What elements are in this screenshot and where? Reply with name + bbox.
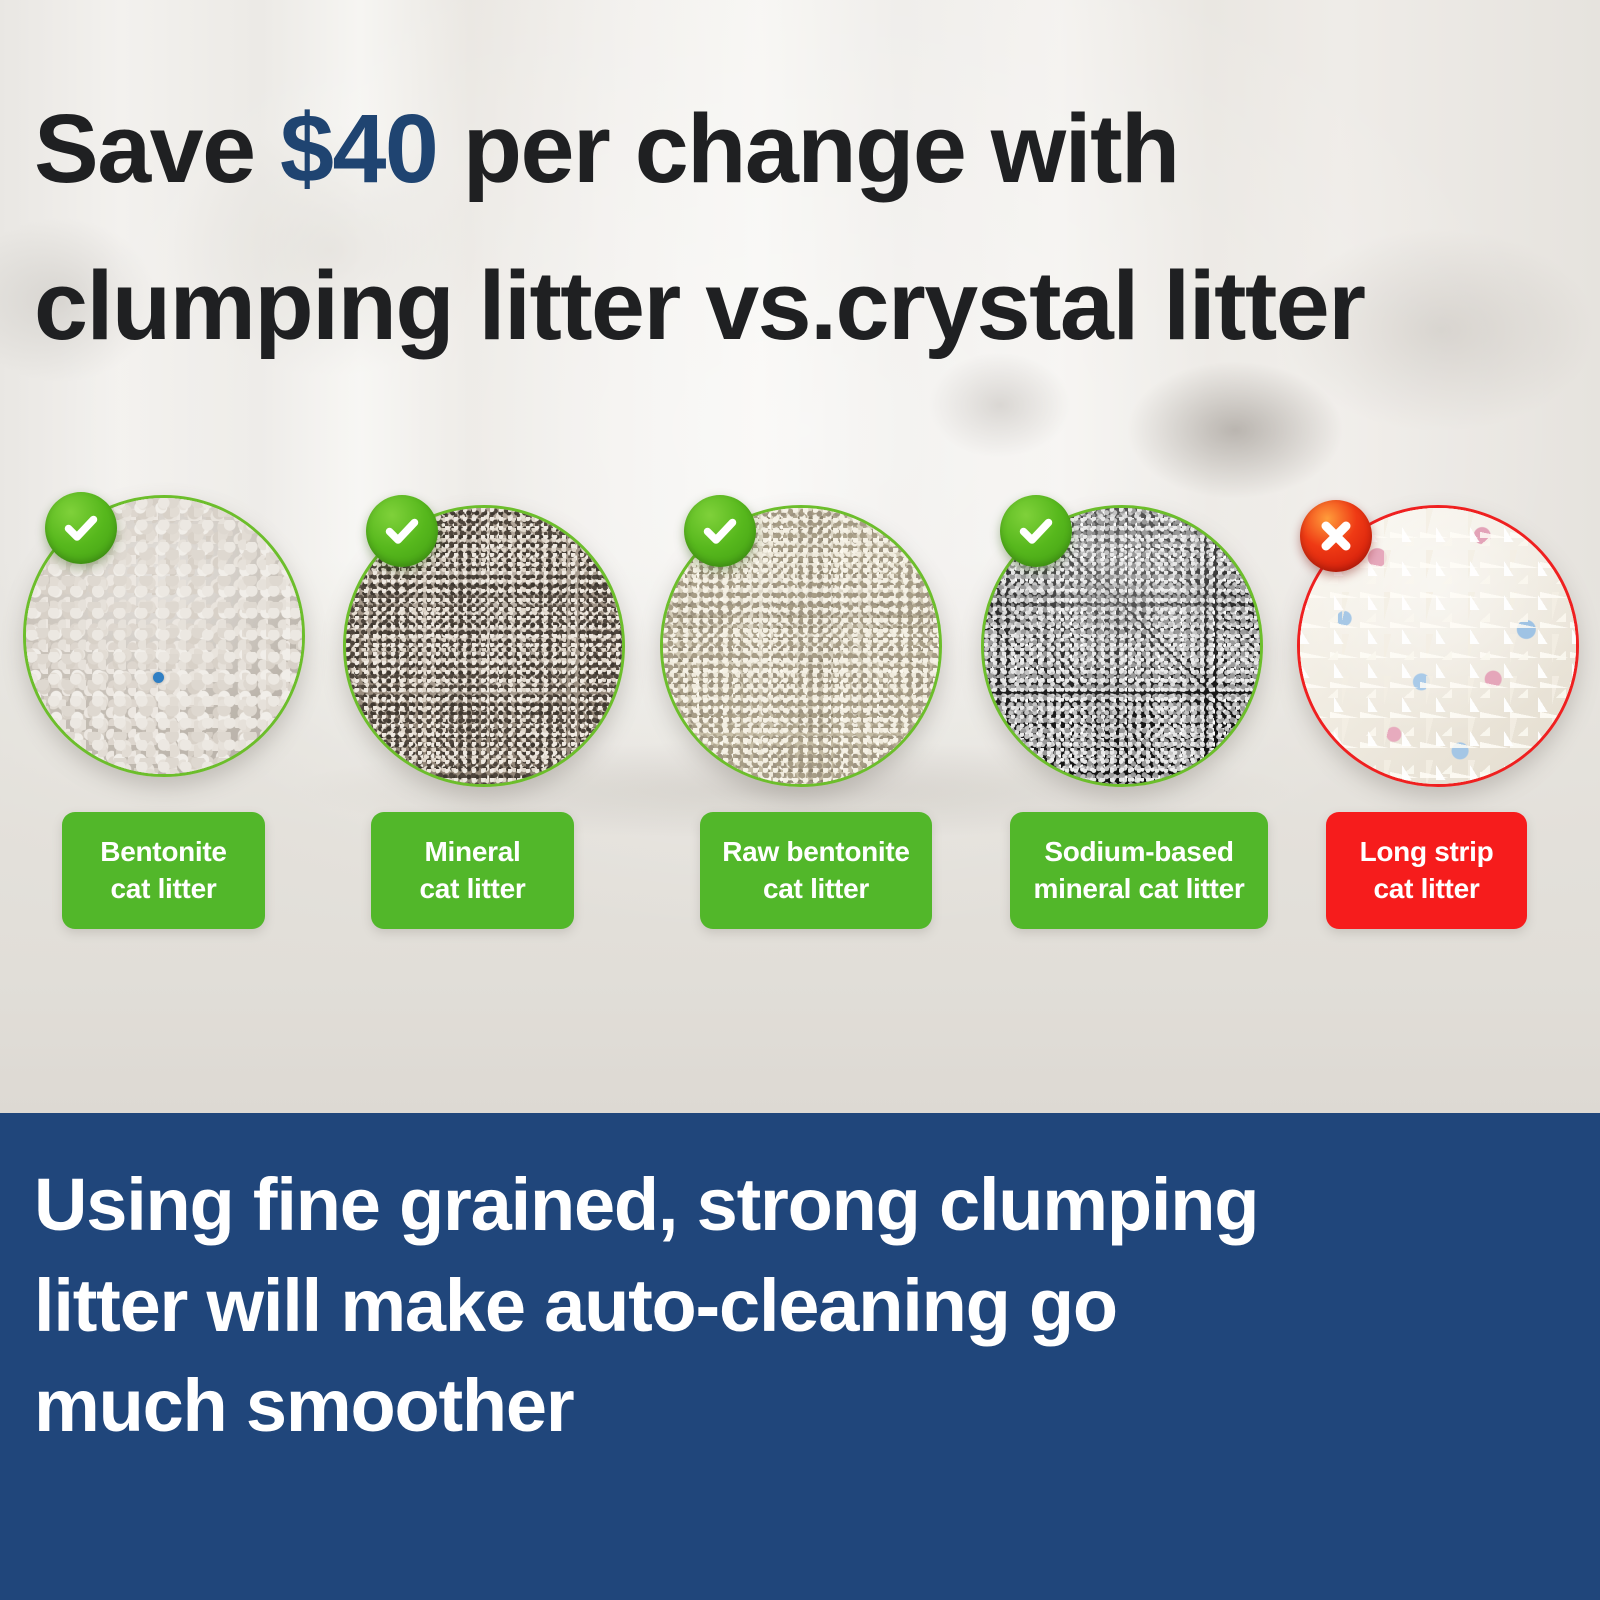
product-label-line1: Bentonite <box>100 836 226 867</box>
check-icon <box>684 495 756 567</box>
product-label-line1: Long strip <box>1360 836 1494 867</box>
footer-message: Using fine grained, strong clumping litt… <box>34 1155 1564 1457</box>
check-icon <box>366 495 438 567</box>
check-icon <box>1000 495 1072 567</box>
product-label-line1: Sodium-based <box>1044 836 1233 867</box>
product-label-line2: cat litter <box>111 873 217 904</box>
footer-line3: much smoother <box>34 1364 573 1447</box>
footer-line1: Using fine grained, strong clumping <box>34 1163 1258 1246</box>
product-label-line2: mineral cat litter <box>1034 873 1245 904</box>
check-icon <box>45 492 117 564</box>
footer-panel: Using fine grained, strong clumping litt… <box>0 1113 1600 1600</box>
product-label-sodium-mineral: Sodium-based mineral cat litter <box>1010 812 1268 929</box>
poster-canvas: Save $40 per change with clumping litter… <box>0 0 1600 1600</box>
x-icon <box>1300 500 1372 572</box>
product-label-bentonite: Bentonite cat litter <box>62 812 265 929</box>
footer-line2: litter will make auto-cleaning go <box>34 1264 1117 1347</box>
product-label-line2: cat litter <box>763 873 869 904</box>
product-label-long-strip: Long strip cat litter <box>1326 812 1527 929</box>
product-comparison-row: Bentonite cat litter Mineral cat litter <box>0 0 1600 1113</box>
product-label-mineral: Mineral cat litter <box>371 812 574 929</box>
product-label-line1: Mineral <box>425 836 521 867</box>
product-label-line1: Raw bentonite <box>722 836 909 867</box>
product-label-raw-bentonite: Raw bentonite cat litter <box>700 812 932 929</box>
product-label-line2: cat litter <box>420 873 526 904</box>
product-label-line2: cat litter <box>1374 873 1480 904</box>
